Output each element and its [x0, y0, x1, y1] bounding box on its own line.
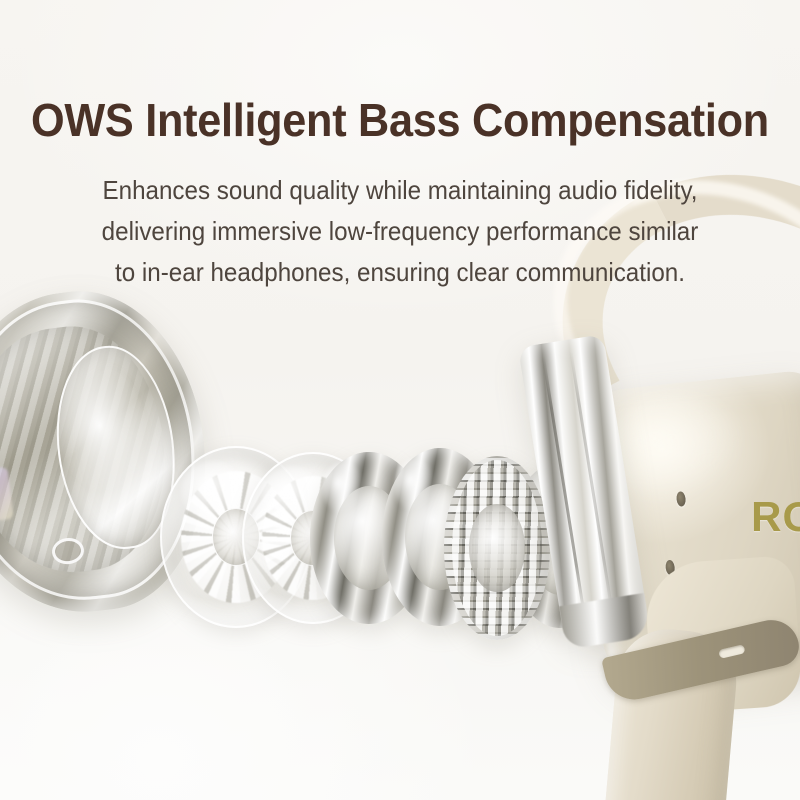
retainer-slot [718, 644, 745, 659]
disc1-gleam [181, 461, 245, 523]
ring1-highlight [322, 462, 364, 514]
brand-logo-text: ROC [751, 493, 800, 541]
coil-bore [469, 504, 524, 592]
voice-coil-part [444, 456, 550, 640]
ring2-highlight [394, 459, 436, 512]
product-banner: ROC OWS Intelligent Bass Compensation En… [0, 0, 800, 800]
